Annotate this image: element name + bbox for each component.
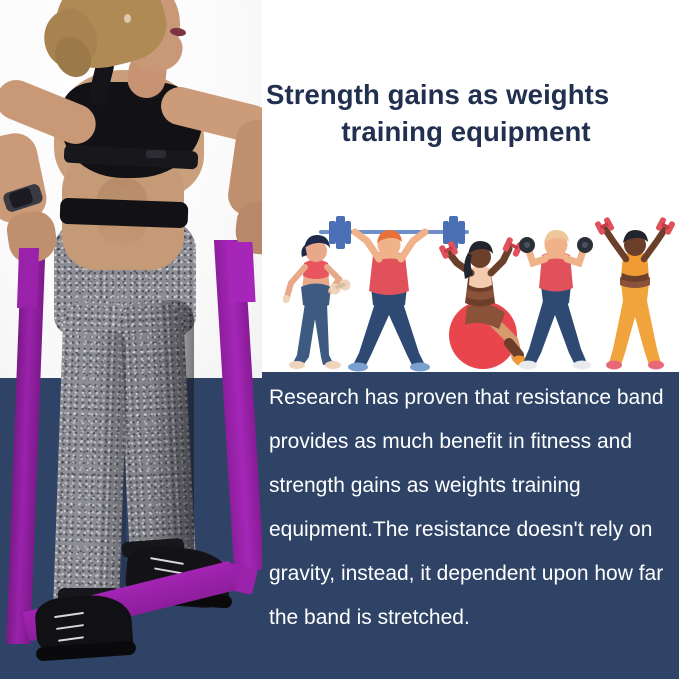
- body-copy-text: Research has proven that resistance band…: [269, 376, 673, 640]
- figure-barbell-overhead-press-man: [319, 216, 469, 372]
- figure-exercise-ball-woman: [438, 236, 530, 369]
- resistable-band-under-left-hand: [17, 248, 39, 308]
- earring: [124, 14, 131, 23]
- infographic-banner: Strength gains as weights training equip…: [0, 0, 679, 679]
- fitness-figures-strip: [283, 215, 679, 375]
- headline-line-2: training equipment: [266, 113, 666, 150]
- figure-shoulder-press-man: [519, 230, 593, 370]
- bra-clip: [146, 150, 166, 158]
- hero-photo: [0, 0, 262, 679]
- body-copy: Research has proven that resistance band…: [269, 376, 673, 640]
- figure-dumbbell-curl-woman: [283, 235, 351, 369]
- dumbbell-icon: [577, 237, 593, 253]
- headline: Strength gains as weights training equip…: [266, 76, 666, 151]
- dumbbell-icon: [519, 237, 535, 253]
- fitness-figures-svg: [283, 215, 679, 375]
- dumbbell-icon: [655, 216, 676, 235]
- leggings-inner-shadow: [96, 330, 126, 600]
- headline-line-1: Strength gains as weights: [266, 76, 666, 113]
- figure-arms-raised-woman: [594, 216, 676, 369]
- legging-waistband: [60, 198, 189, 228]
- dumbbell-icon: [594, 216, 615, 235]
- barbell-plate-left: [329, 216, 351, 249]
- resistable-band-under-right-hand: [226, 242, 255, 302]
